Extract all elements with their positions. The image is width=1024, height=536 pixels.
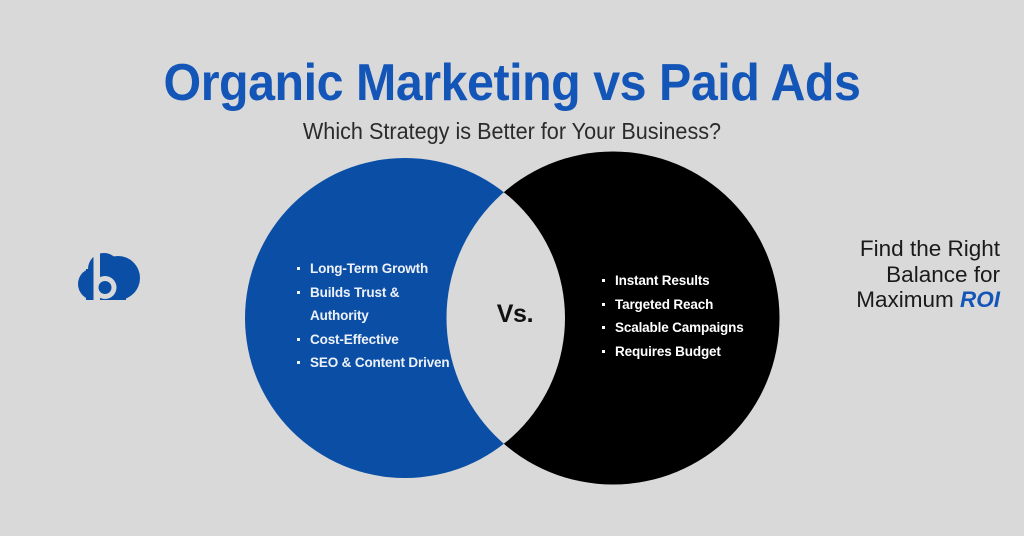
organic-benefits-list: Long-Term Growth Builds Trust & Authorit… [295, 257, 450, 375]
list-item-continuation: Authority [295, 304, 450, 328]
logo-dot [99, 281, 112, 294]
page-title: Organic Marketing vs Paid Ads [36, 54, 988, 112]
tagline-line-2: Balance for [740, 262, 1000, 288]
versus-label: Vs. [475, 300, 555, 328]
list-item: Builds Trust & [295, 281, 450, 305]
list-item: Requires Budget [600, 340, 744, 364]
cloud-logo-icon [74, 249, 142, 301]
list-item: Instant Results [600, 269, 744, 293]
paid-ads-benefits-list: Instant Results Targeted Reach Scalable … [600, 269, 744, 363]
venn-diagram: Long-Term Growth Builds Trust & Authorit… [230, 140, 800, 500]
tagline: Find the Right Balance for Maximum ROI [740, 236, 1000, 313]
list-item: Targeted Reach [600, 293, 744, 317]
list-item: Cost-Effective [295, 328, 450, 352]
tagline-line-1: Find the Right [740, 236, 1000, 262]
roi-highlight: ROI [960, 287, 1000, 312]
infographic-canvas: Organic Marketing vs Paid Ads Which Stra… [0, 0, 1024, 536]
tagline-line-3: Maximum ROI [740, 287, 1000, 313]
brand-logo [74, 249, 142, 301]
tagline-line-3-prefix: Maximum [856, 287, 960, 312]
list-item: SEO & Content Driven [295, 351, 450, 375]
list-item: Long-Term Growth [295, 257, 450, 281]
list-item: Scalable Campaigns [600, 316, 744, 340]
